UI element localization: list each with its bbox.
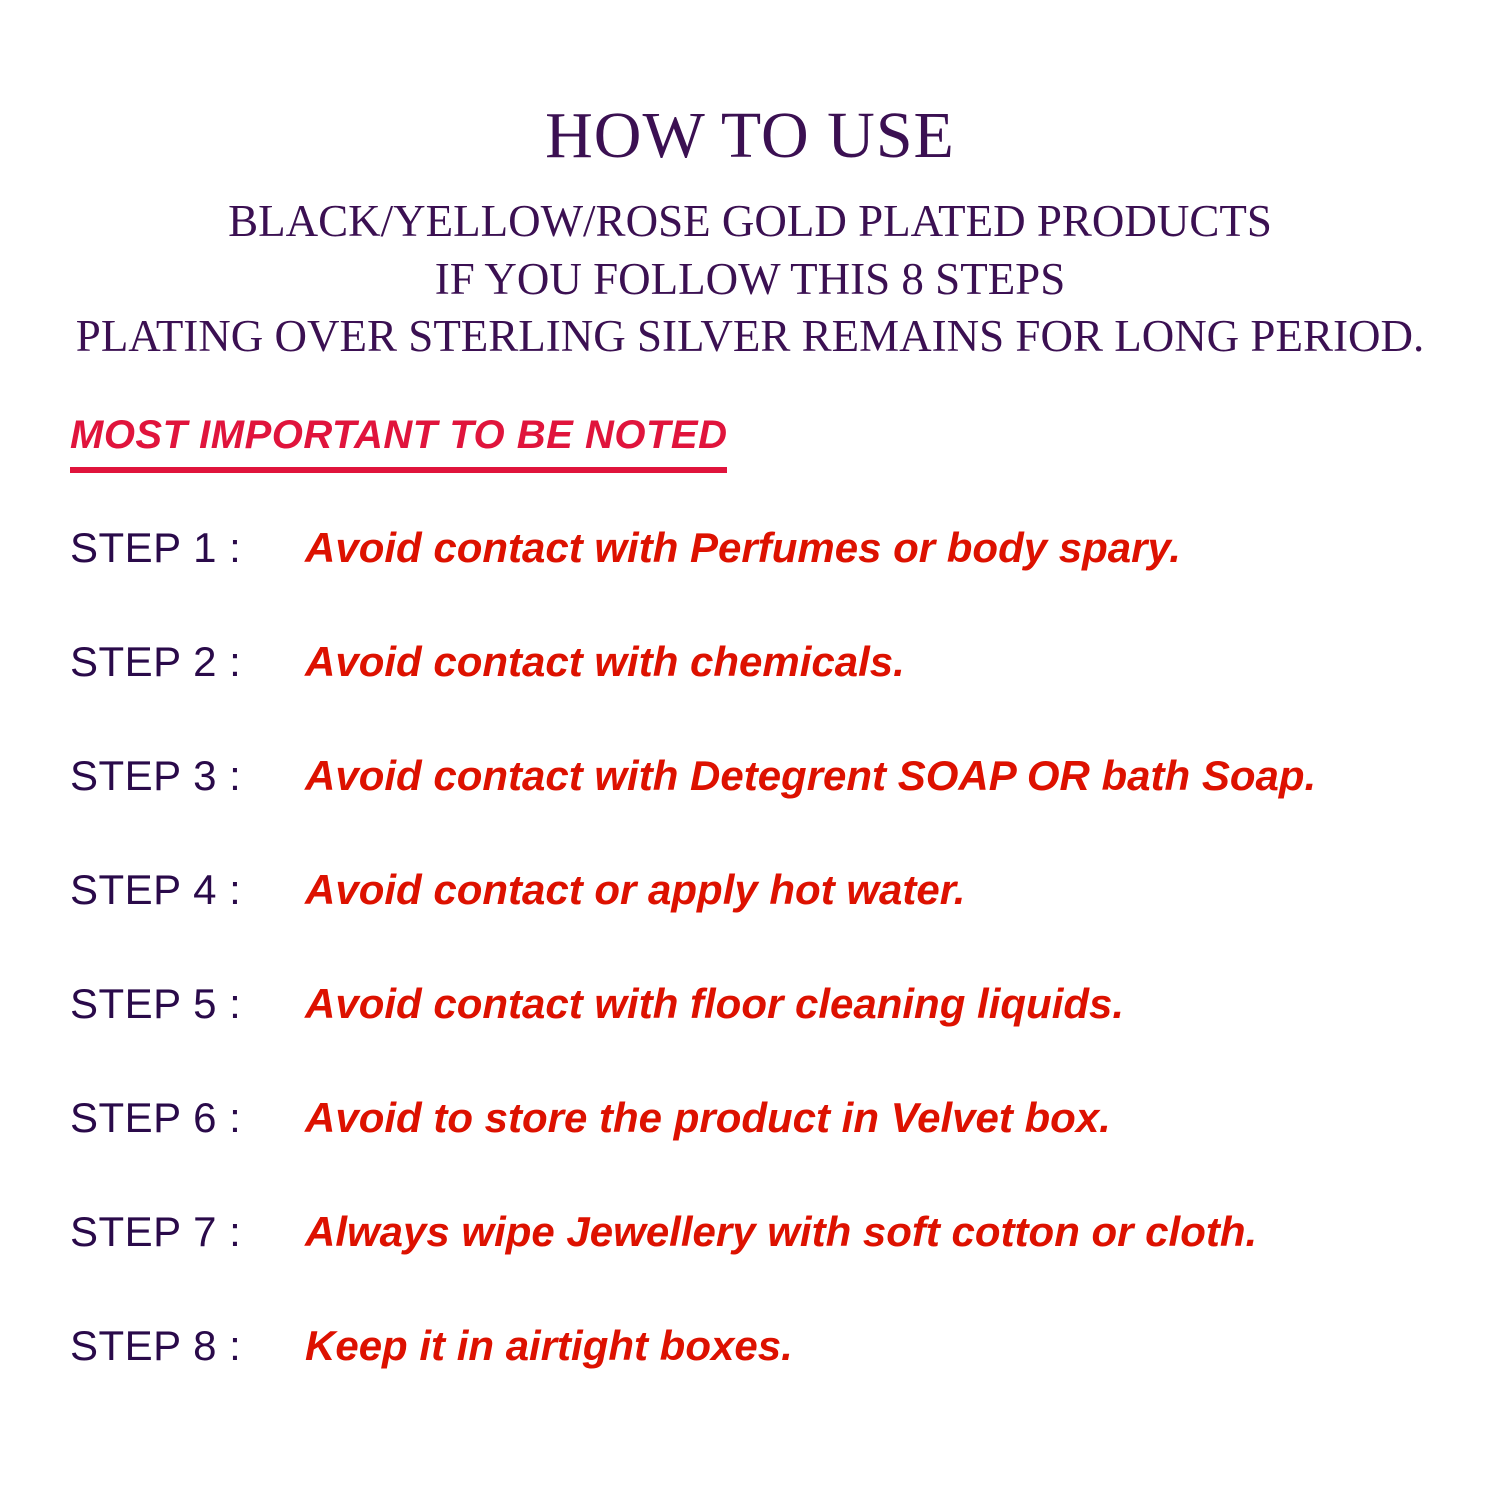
step-row: STEP 6 : Avoid to store the product in V… bbox=[70, 1094, 1470, 1208]
step-row: STEP 2 : Avoid contact with chemicals. bbox=[70, 638, 1470, 752]
step-text: Keep it in airtight boxes. bbox=[305, 1322, 793, 1370]
header-block: HOW TO USE BLACK/YELLOW/ROSE GOLD PLATED… bbox=[0, 0, 1500, 366]
step-text: Avoid contact or apply hot water. bbox=[305, 866, 965, 914]
page-title: HOW TO USE bbox=[0, 0, 1500, 169]
step-text: Avoid contact with floor cleaning liquid… bbox=[305, 980, 1124, 1028]
step-label: STEP 8 : bbox=[70, 1322, 305, 1370]
subtitle-line-3: PLATING OVER STERLING SILVER REMAINS FOR… bbox=[0, 308, 1500, 366]
step-row: STEP 1 : Avoid contact with Perfumes or … bbox=[70, 524, 1470, 638]
step-row: STEP 7 : Always wipe Jewellery with soft… bbox=[70, 1208, 1470, 1322]
subtitle-line-1: BLACK/YELLOW/ROSE GOLD PLATED PRODUCTS bbox=[0, 193, 1500, 251]
step-text: Avoid contact with Perfumes or body spar… bbox=[305, 524, 1181, 572]
step-label: STEP 1 : bbox=[70, 524, 305, 572]
step-text: Always wipe Jewellery with soft cotton o… bbox=[305, 1208, 1257, 1256]
steps-list: STEP 1 : Avoid contact with Perfumes or … bbox=[70, 524, 1470, 1436]
step-row: STEP 4 : Avoid contact or apply hot wate… bbox=[70, 866, 1470, 980]
notice-heading-wrap: MOST IMPORTANT TO BE NOTED bbox=[70, 413, 727, 473]
step-row: STEP 5 : Avoid contact with floor cleani… bbox=[70, 980, 1470, 1094]
step-label: STEP 4 : bbox=[70, 866, 305, 914]
step-text: Avoid contact with chemicals. bbox=[305, 638, 905, 686]
subtitle-block: BLACK/YELLOW/ROSE GOLD PLATED PRODUCTS I… bbox=[0, 193, 1500, 366]
step-label: STEP 3 : bbox=[70, 752, 305, 800]
step-label: STEP 6 : bbox=[70, 1094, 305, 1142]
subtitle-line-2: IF YOU FOLLOW THIS 8 STEPS bbox=[0, 251, 1500, 309]
step-text: Avoid to store the product in Velvet box… bbox=[305, 1094, 1111, 1142]
notice-heading: MOST IMPORTANT TO BE NOTED bbox=[70, 413, 727, 473]
step-label: STEP 7 : bbox=[70, 1208, 305, 1256]
step-label: STEP 5 : bbox=[70, 980, 305, 1028]
step-row: STEP 8 : Keep it in airtight boxes. bbox=[70, 1322, 1470, 1436]
step-row: STEP 3 : Avoid contact with Detegrent SO… bbox=[70, 752, 1470, 866]
instruction-card: HOW TO USE BLACK/YELLOW/ROSE GOLD PLATED… bbox=[0, 0, 1500, 1500]
step-label: STEP 2 : bbox=[70, 638, 305, 686]
step-text: Avoid contact with Detegrent SOAP OR bat… bbox=[305, 752, 1316, 800]
